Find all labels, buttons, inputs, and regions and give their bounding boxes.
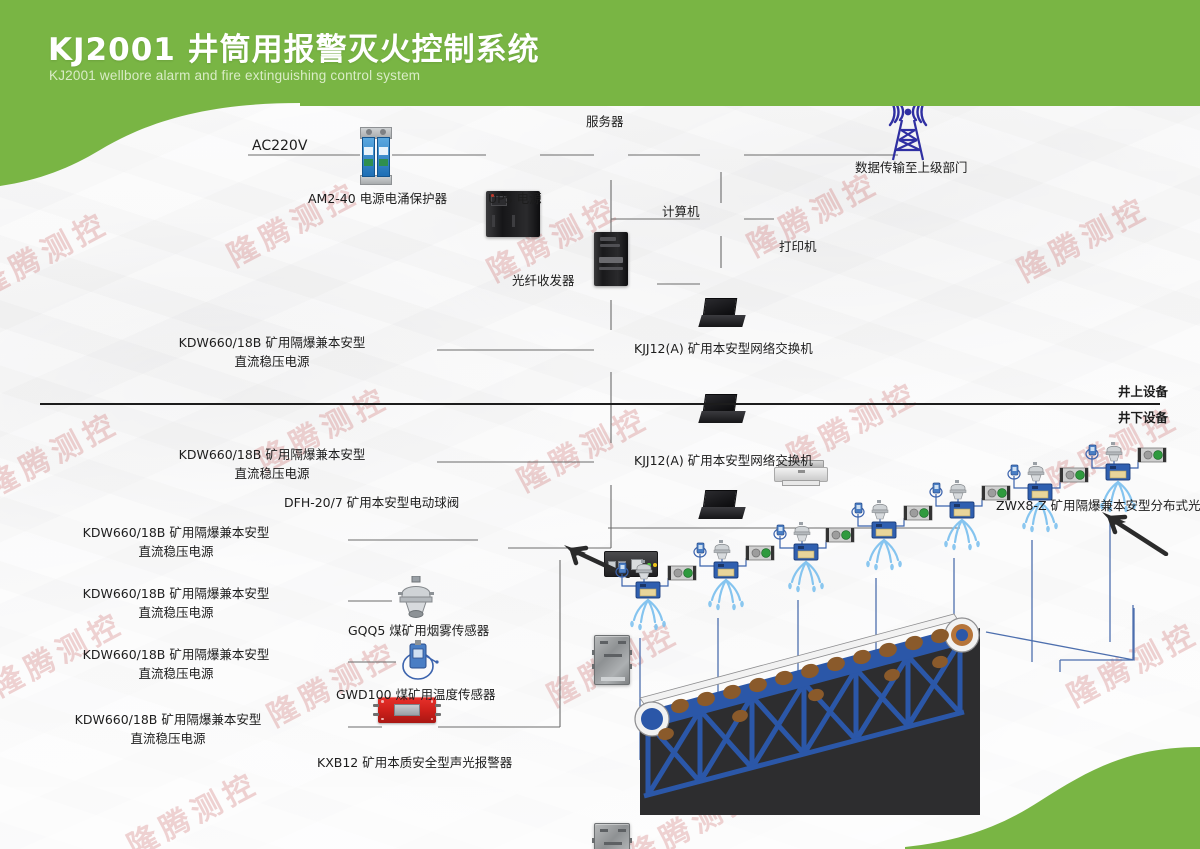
label-psu-u1-line2: 直流稳压电源 bbox=[172, 465, 372, 482]
label-psu-u2-line2: 直流稳压电源 bbox=[76, 543, 276, 560]
label-computer: 计算机 bbox=[662, 203, 700, 220]
label-temperature-sensor: GWD100 煤矿用温度传感器 bbox=[336, 686, 496, 703]
computer-laptop-1[interactable] bbox=[700, 298, 744, 330]
station-valve-icon bbox=[794, 544, 818, 560]
sprinkler-station[interactable] bbox=[610, 560, 700, 638]
sprinkler-station[interactable] bbox=[688, 540, 778, 618]
label-psu-u4-line1: KDW660/18B 矿用隔爆兼本安型 bbox=[76, 646, 276, 663]
station-valve-icon bbox=[950, 502, 974, 518]
footer-wave bbox=[0, 739, 1200, 849]
station-valve-icon bbox=[714, 562, 738, 578]
sprinkler-station[interactable] bbox=[768, 522, 858, 600]
temperature-sensor-device[interactable] bbox=[396, 640, 440, 682]
page-subtitle: KJ2001 wellbore alarm and fire extinguis… bbox=[49, 68, 420, 83]
station-valve-icon bbox=[636, 582, 660, 598]
station-alarm-icon bbox=[1138, 448, 1166, 462]
station-valve-icon bbox=[1106, 464, 1130, 480]
smoke-sensor-device[interactable] bbox=[392, 576, 440, 620]
label-switch-underground: KJJ12(A) 矿用本安型网络交换机 bbox=[634, 452, 813, 469]
label-smoke-sensor: GQQ5 煤矿用烟雾传感器 bbox=[348, 622, 489, 639]
label-fiber-temperature-host: ZWX8-Z 矿用隔爆兼本安型分布式光纤测温装置主机 bbox=[996, 497, 1200, 514]
station-smoke-sensor-icon bbox=[1028, 462, 1044, 481]
label-psu-u3-line1: KDW660/18B 矿用隔爆兼本安型 bbox=[76, 585, 276, 602]
label-psu-u3-line2: 直流稳压电源 bbox=[76, 604, 276, 621]
station-smoke-sensor-icon bbox=[636, 560, 652, 579]
station-valve-icon bbox=[872, 522, 896, 538]
label-psu-u2-line1: KDW660/18B 矿用隔爆兼本安型 bbox=[76, 524, 276, 541]
station-smoke-sensor-icon bbox=[714, 540, 730, 559]
label-electric-ball-valve: DFH-20/7 矿用本安型电动球阀 bbox=[284, 494, 459, 511]
label-fiber-transceiver: 光纤收发器 bbox=[512, 272, 575, 289]
label-ups: UPS 电源 bbox=[488, 190, 542, 207]
label-psu-surface-line1: KDW660/18B 矿用隔爆兼本安型 bbox=[172, 334, 372, 351]
station-smoke-sensor-icon bbox=[872, 500, 888, 519]
label-switch-surface: KJJ12(A) 矿用本安型网络交换机 bbox=[634, 340, 813, 357]
computer-laptop-3[interactable] bbox=[700, 490, 744, 522]
label-psu-u5-line1: KDW660/18B 矿用隔爆兼本安型 bbox=[68, 711, 268, 728]
label-printer: 打印机 bbox=[779, 238, 817, 255]
sprinkler-station[interactable] bbox=[924, 480, 1014, 558]
label-psu-surface-line2: 直流稳压电源 bbox=[172, 353, 372, 370]
server-device[interactable] bbox=[594, 232, 628, 286]
station-smoke-sensor-icon bbox=[950, 480, 966, 499]
label-below-ground: 井下设备 bbox=[1118, 409, 1168, 426]
label-spd: AM2-40 电源电涌保护器 bbox=[308, 190, 447, 207]
station-smoke-sensor-icon bbox=[794, 522, 810, 541]
diagram-page: 隆腾测控 隆腾测控 隆腾测控 隆腾测控 隆腾测控 隆腾测控 隆腾测控 隆腾测控 … bbox=[0, 0, 1200, 849]
page-title: KJ2001 井筒用报警灭火控制系统 bbox=[48, 24, 540, 69]
label-psu-u1-line1: KDW660/18B 矿用隔爆兼本安型 bbox=[172, 446, 372, 463]
label-above-ground: 井上设备 bbox=[1118, 383, 1168, 400]
label-psu-u4-line2: 直流稳压电源 bbox=[76, 665, 276, 682]
station-smoke-sensor-icon bbox=[1106, 442, 1122, 461]
computer-laptop-2[interactable] bbox=[700, 394, 744, 426]
surface-underground-divider bbox=[40, 403, 1160, 405]
sprinkler-station[interactable] bbox=[846, 500, 936, 578]
